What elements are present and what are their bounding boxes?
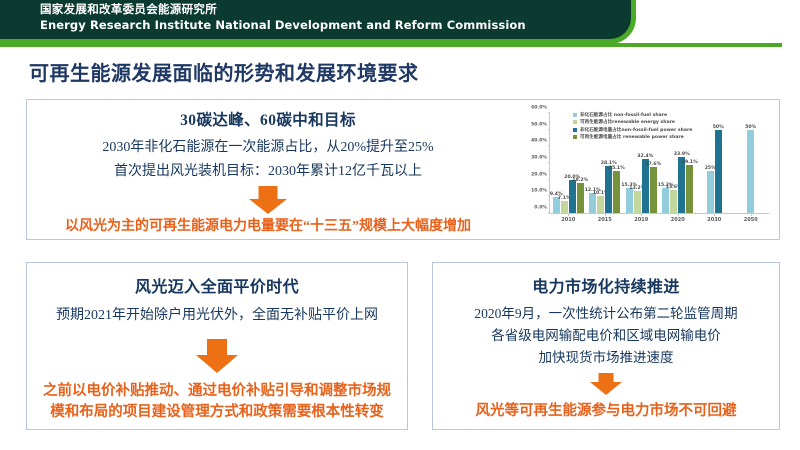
- panel-carbon-goals-line-2: 首次提出风光装机目标：2030年累计12亿千瓦以上: [35, 160, 501, 184]
- chart-legend-label: 可再生能源占比renewable energy share: [580, 119, 675, 125]
- chart-bar: 50%: [715, 130, 722, 213]
- panel-power-market: 电力市场化持续推进 2020年9月，一次性统计公布第二轮监管周期 各省级电网输配…: [432, 262, 780, 430]
- chart-bar-value-label: 32.4%: [637, 154, 653, 159]
- chart-legend-swatch: [573, 120, 577, 124]
- chart-bar: 27.6%: [650, 167, 657, 213]
- panel-carbon-goals-heading: 30碳达峰、60碳中和目标: [35, 108, 501, 130]
- panel-power-market-conclusion-1: 风光等可再生能源参与电力市场不可回避: [439, 401, 773, 422]
- chart-x-tick-label: 2019: [634, 217, 648, 223]
- chart-bar: 13.2%: [634, 191, 641, 213]
- panel-grid-parity-conclusion-2: 模和布局的项目建设管理方式和政策需要根本性转变: [33, 402, 401, 423]
- chart-x-tick-label: 2010: [561, 217, 575, 223]
- chart-x-tick-label: 2015: [598, 217, 612, 223]
- chart-legend-swatch: [573, 128, 577, 132]
- panel-grid-parity-text: 风光迈入全面平价时代 预期2021年开始除户用光伏外，全面无补贴平价上网 之前以…: [33, 273, 401, 423]
- down-arrow-icon: [588, 373, 624, 395]
- panel-grid-parity: 风光迈入全面平价时代 预期2021年开始除户用光伏外，全面无补贴平价上网 之前以…: [26, 262, 408, 430]
- panel-power-market-line-2: 各省级电网输配电价和区域电网输电价: [439, 325, 773, 347]
- chart-x-tick-mark: [641, 213, 642, 216]
- chart-bar: 18.2%: [577, 183, 584, 213]
- chart-legend-swatch: [573, 135, 577, 139]
- chart-bar: 28.1%: [605, 166, 612, 213]
- panel-grid-parity-heading: 风光迈入全面平价时代: [33, 273, 401, 297]
- chart-bar: 33.9%: [678, 157, 685, 214]
- chart-y-tick-label: 40.0%: [531, 139, 550, 144]
- chart-bar-group: 25%50%2030: [696, 113, 732, 213]
- chart-bar: 29.1%: [686, 165, 693, 214]
- chart-bar: 25%: [707, 171, 714, 213]
- header-banner: 国家发展和改革委员会能源研究所 Energy Research Institut…: [0, 0, 636, 44]
- chart-x-tick-label: 2030: [707, 217, 721, 223]
- chart-bar-group: 50%2050: [733, 113, 769, 213]
- chart-bar-value-label: 50%: [713, 125, 724, 130]
- header-title-cn: 国家发展和改革委员会能源研究所: [40, 2, 526, 17]
- chart-bar: 15.3%: [626, 188, 633, 214]
- chart-x-tick-mark: [751, 213, 752, 216]
- down-arrow-icon: [248, 186, 288, 214]
- chart-legend-swatch: [573, 113, 577, 117]
- panel-carbon-goals-conclusion: 以风光为主的可再生能源电力电量要在“十三五”规模上大幅度增加: [35, 216, 501, 237]
- panel-power-market-line-1: 2020年9月，一次性统计公布第二轮监管周期: [439, 303, 773, 325]
- chart-bar: 10.1%: [597, 196, 604, 213]
- chart-legend-label: 非化石能源占比 non-fossil-fuel share: [580, 112, 667, 118]
- chart-bar: 20.0%: [569, 180, 576, 213]
- chart-y-tick-label: 60.0%: [531, 106, 550, 111]
- chart-legend-label: 可再生能源电量占比 renewable power share: [580, 134, 684, 140]
- chart-bar-value-label: 50%: [745, 125, 756, 130]
- chart-bar: 50%: [747, 130, 754, 213]
- chart-x-tick-mark: [605, 213, 606, 216]
- chart-x-tick-mark: [568, 213, 569, 216]
- panel-power-market-line-3: 加快现货市场推进速度: [439, 347, 773, 369]
- chart-bar: 32.4%: [642, 159, 649, 213]
- chart-legend: 非化石能源占比 non-fossil-fuel share可再生能源占比rene…: [573, 111, 692, 141]
- panel-grid-parity-conclusion-1: 之前以电价补贴推动、通过电价补贴引导和调整市场规: [33, 381, 401, 402]
- panel-carbon-goals-text: 30碳达峰、60碳中和目标 2030年非化石能源在一次能源占比，从20%提升至2…: [35, 108, 501, 237]
- down-arrow-icon: [195, 339, 239, 373]
- chart-y-tick-label: 20.0%: [531, 172, 550, 177]
- page-title: 可再生能源发展面临的形势和发展环境要求: [29, 57, 419, 86]
- chart-y-tick-label: 30.0%: [531, 156, 550, 161]
- chart-legend-item: 可再生能源电量占比 renewable power share: [573, 134, 692, 141]
- chart-x-tick-mark: [714, 213, 715, 216]
- chart-legend-item: 可再生能源占比renewable energy share: [573, 119, 692, 126]
- chart-bar: 25.1%: [613, 171, 620, 213]
- chart-x-tick-mark: [678, 213, 679, 216]
- chart-legend-label: 非化石能源电量占比non-fossil-fuel power share: [580, 127, 692, 133]
- chart-bar: 7.1%: [561, 201, 568, 213]
- panel-carbon-goals-line-1: 2030年非化石能源在一次能源占比，从20%提升至25%: [35, 136, 501, 160]
- chart-y-tick-label: 10.0%: [531, 189, 550, 194]
- header-title-en: Energy Research Institute National Devel…: [40, 17, 526, 33]
- chart-legend-item: 非化石能源电量占比non-fossil-fuel power share: [573, 126, 692, 133]
- chart-x-tick-label: 2020: [671, 217, 685, 223]
- panel-power-market-heading: 电力市场化持续推进: [439, 273, 773, 297]
- chart-y-tick-label: 50.0%: [531, 122, 550, 127]
- chart-bar-value-label: 33.9%: [674, 152, 690, 157]
- chart-x-tick-label: 2050: [744, 217, 758, 223]
- panel-grid-parity-line-1: 预期2021年开始除户用光伏外，全面无补贴平价上网: [33, 305, 401, 327]
- header-text-block: 国家发展和改革委员会能源研究所 Energy Research Institut…: [40, 2, 526, 33]
- panel-carbon-goals: 30碳达峰、60碳中和目标 2030年非化石能源在一次能源占比，从20%提升至2…: [26, 99, 780, 240]
- panel-power-market-text: 电力市场化持续推进 2020年9月，一次性统计公布第二轮监管周期 各省级电网输配…: [439, 273, 773, 422]
- renewable-share-chart: 0.0%10.0%20.0%30.0%40.0%50.0%60.0% 9.4%7…: [513, 105, 775, 236]
- chart-legend-item: 非化石能源占比 non-fossil-fuel share: [573, 111, 692, 118]
- chart-bar: 13.6%: [670, 190, 677, 213]
- chart-bar: 15.2%: [662, 188, 669, 213]
- chart-y-tick-label: 0.0%: [534, 206, 550, 211]
